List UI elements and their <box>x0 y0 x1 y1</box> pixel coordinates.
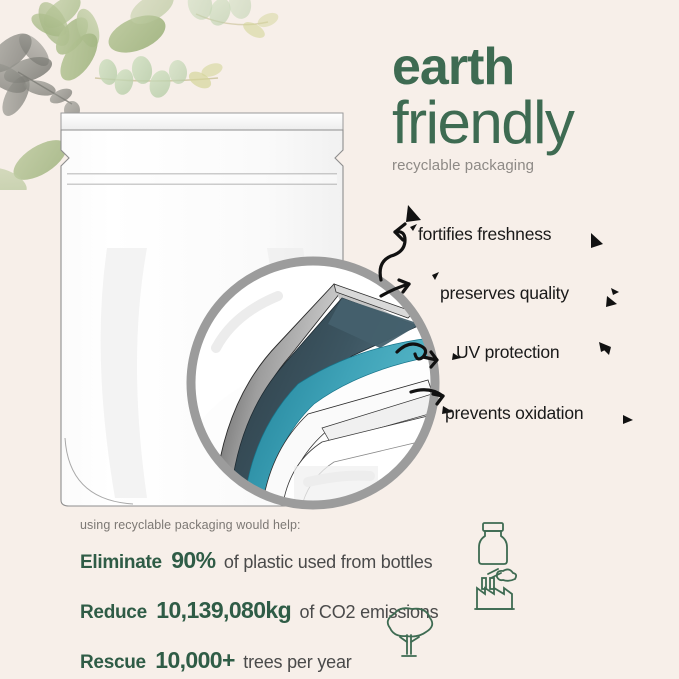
stat-row: Eliminate 90% of plastic used from bottl… <box>80 547 600 574</box>
stat-value: 10,139,080kg <box>156 597 291 623</box>
headline-block: earth friendly recyclable packaging <box>392 44 662 174</box>
bottle-icon <box>472 520 514 568</box>
stats-lead-text: using recyclable packaging would help: <box>80 518 600 532</box>
factory-icon <box>470 566 518 612</box>
stat-tail: of plastic used from bottles <box>224 552 433 572</box>
callout-label-uv-protection[interactable]: UV protection <box>456 342 559 363</box>
stats-block: using recyclable packaging would help: E… <box>80 518 600 674</box>
curly-arrow-3 <box>397 344 426 359</box>
tree-icon <box>378 604 440 662</box>
stat-tail: trees per year <box>243 652 351 672</box>
infographic-canvas: fortifies freshness preserves quality UV… <box>0 0 679 679</box>
page-title-line1: earth <box>392 44 662 92</box>
pouch-zipper <box>67 174 337 184</box>
stat-row: Rescue 10,000+ trees per year <box>80 647 600 674</box>
page-subtitle: recyclable packaging <box>392 157 662 174</box>
stat-row: Reduce 10,139,080kg of CO2 emissions <box>80 597 600 624</box>
stat-verb: Reduce <box>80 602 147 623</box>
page-title-line2: friendly <box>392 94 662 151</box>
callout-label-prevents-oxidation[interactable]: prevents oxidation <box>445 403 583 424</box>
stat-verb: Eliminate <box>80 552 162 573</box>
callout-label-preserves-quality[interactable]: preserves quality <box>440 283 569 304</box>
callout-label-fortifies-freshness[interactable]: fortifies freshness <box>418 224 551 245</box>
eucalyptus-sprig-left <box>95 55 224 101</box>
stat-verb: Rescue <box>80 652 146 673</box>
stat-value: 90% <box>171 547 215 573</box>
pouch-top-seal <box>61 113 343 130</box>
stat-value: 10,000+ <box>155 647 235 673</box>
eucalyptus-sprig-topright <box>184 0 280 41</box>
